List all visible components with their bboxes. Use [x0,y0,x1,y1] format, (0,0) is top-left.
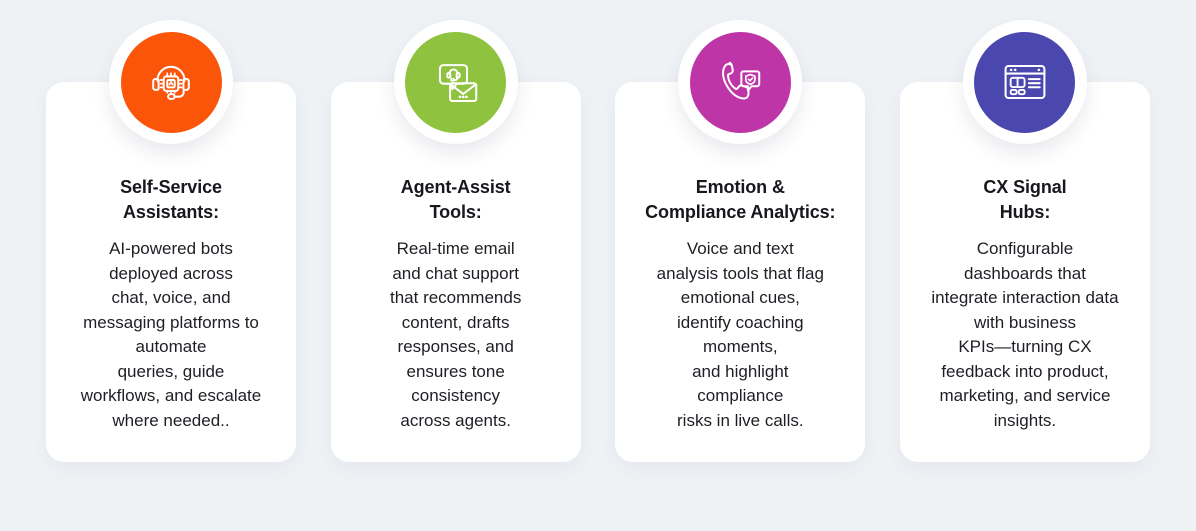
icon-circle-3 [690,32,791,133]
feature-card-agent-assist-tools[interactable]: Agent-Assist Tools: Real-time email and … [331,82,581,462]
feature-cards-board: Self-Service Assistants: AI-powered bots… [0,0,1196,531]
icon-halo [394,20,518,144]
feature-card-self-service-assistants[interactable]: Self-Service Assistants: AI-powered bots… [46,82,296,462]
icon-halo [963,20,1087,144]
card-body: Configurable dashboards that integrate i… [931,237,1118,433]
card-title: CX Signal Hubs: [983,175,1066,224]
icon-circle-1 [121,32,222,133]
card-body: AI-powered bots deployed across chat, vo… [46,237,296,433]
feature-card-emotion-compliance-analytics[interactable]: Emotion & Compliance Analytics: Voice an… [615,82,865,462]
card-body: Real-time email and chat support that re… [386,237,525,433]
icon-circle-4 [974,32,1075,133]
feature-card-cx-signal-hubs[interactable]: CX Signal Hubs: Configurable dashboards … [900,82,1150,462]
card-title: Self-Service Assistants: [114,175,228,224]
icon-halo [109,20,233,144]
cards-row: Self-Service Assistants: AI-powered bots… [46,82,1150,462]
card-title: Agent-Assist Tools: [395,175,517,224]
chat-support-email-icon [429,55,483,109]
icon-circle-2 [405,32,506,133]
ai-headset-icon [144,55,198,109]
card-body: Voice and text analysis tools that flag … [657,237,824,433]
icon-halo [678,20,802,144]
dashboard-window-icon [998,55,1052,109]
card-title: Emotion & Compliance Analytics: [645,175,835,224]
phone-shield-compliance-icon [713,55,767,109]
